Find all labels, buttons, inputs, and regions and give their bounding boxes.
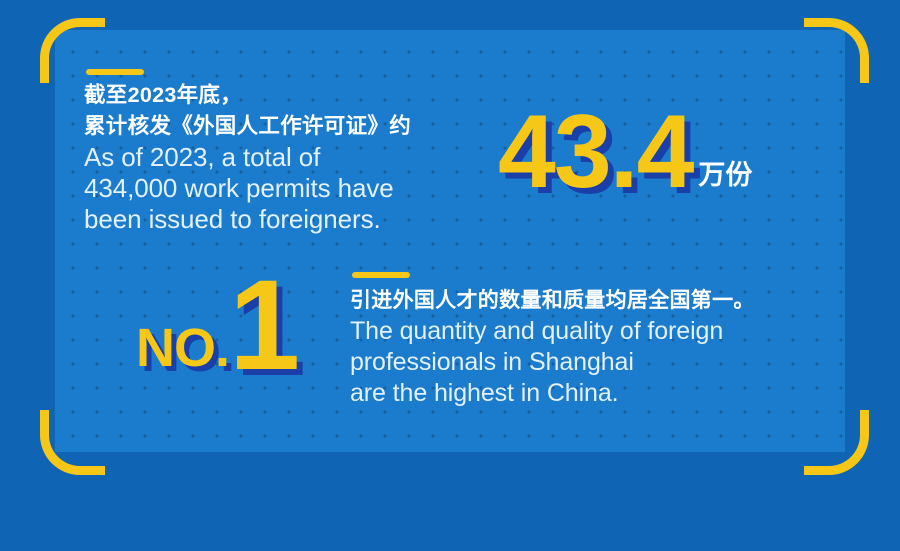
- zh-line: 引进外国人才的数量和质量均居全国第一。: [350, 285, 840, 316]
- corner-bracket-top-right-icon: [804, 18, 869, 83]
- corner-bracket-bottom-right-icon: [804, 410, 869, 475]
- stat-work-permits: 43.4 万份: [498, 108, 752, 197]
- zh-line: 累计核发《外国人工作许可证》约: [84, 111, 514, 142]
- en-line: As of 2023, a total of: [84, 142, 514, 173]
- en-line: The quantity and quality of foreign: [350, 316, 840, 347]
- en-line: are the highest in China.: [350, 378, 840, 409]
- stat-ranking: NO. 1: [136, 276, 296, 376]
- accent-bar-ranking: [352, 272, 410, 278]
- text-block-work-permits: 截至2023年底， 累计核发《外国人工作许可证》约 As of 2023, a …: [84, 80, 514, 235]
- stat-value: 1: [229, 276, 296, 376]
- text-block-ranking: 引进外国人才的数量和质量均居全国第一。 The quantity and qua…: [350, 285, 840, 409]
- infographic-card: 截至2023年底， 累计核发《外国人工作许可证》约 As of 2023, a …: [0, 0, 900, 551]
- accent-bar-work-permits: [86, 69, 144, 75]
- corner-bracket-bottom-left-icon: [40, 410, 105, 475]
- en-line: professionals in Shanghai: [350, 347, 840, 378]
- zh-line: 截至2023年底，: [84, 80, 514, 111]
- stat-unit: 万份: [698, 162, 752, 189]
- en-line: 434,000 work permits have: [84, 173, 514, 204]
- stat-value: 43.4: [498, 108, 692, 197]
- stat-label: NO.: [136, 321, 229, 375]
- en-line: been issued to foreigners.: [84, 204, 514, 235]
